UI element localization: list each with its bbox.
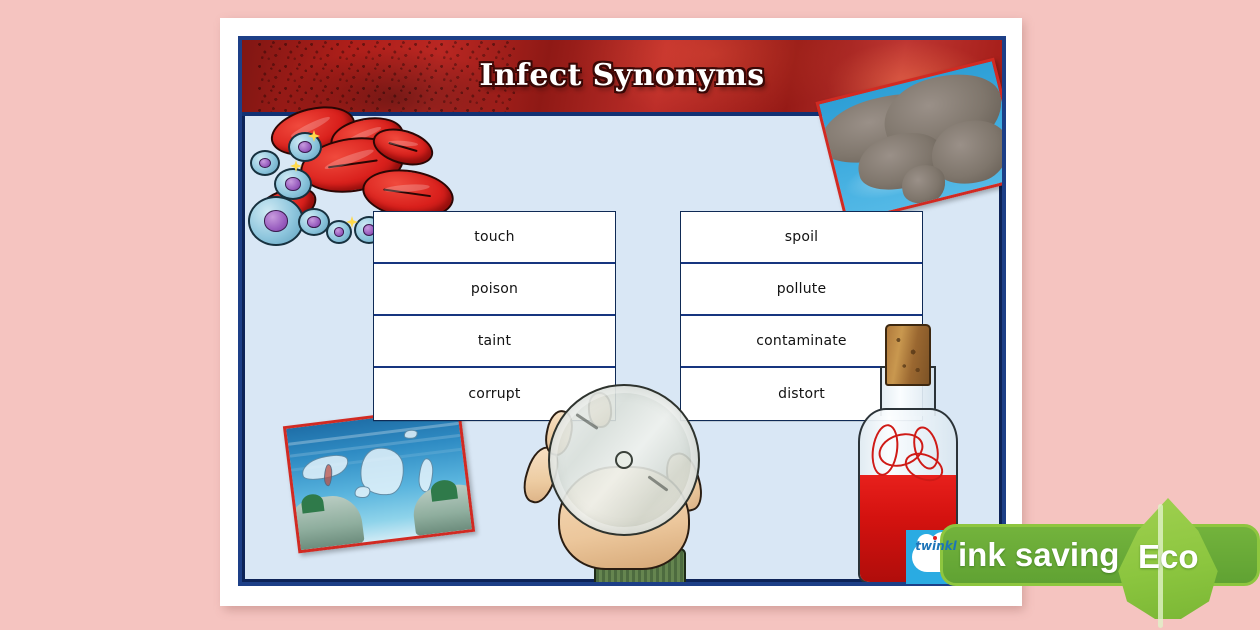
eco-label: Eco — [1138, 538, 1199, 576]
logo-dot — [933, 536, 937, 540]
germ-nucleus — [298, 141, 312, 153]
ink-saving-label: ink saving — [958, 536, 1119, 574]
word-cell[interactable]: touch — [374, 212, 615, 264]
germ-character — [248, 196, 304, 246]
dish-highlight — [647, 475, 668, 492]
floating-plastic-bag — [324, 464, 333, 486]
poster-page: Infect Synonyms — [220, 18, 1022, 606]
seaweed — [300, 493, 324, 514]
floating-plastic-bag — [354, 485, 371, 499]
dish-sample-dot — [615, 451, 633, 469]
germ-character — [250, 150, 280, 176]
word-cell[interactable]: spoil — [681, 212, 922, 264]
hand-with-petri-dish-illustration — [518, 370, 728, 586]
dish-highlight — [575, 413, 598, 430]
poster-inner-frame: Infect Synonyms — [238, 36, 1006, 586]
petri-dish — [548, 384, 700, 536]
cell-crease — [384, 189, 431, 198]
germ-nucleus — [307, 216, 320, 228]
liquid-swirl — [869, 422, 902, 477]
seabed-rock — [285, 493, 365, 552]
brand-name: twinkl — [906, 539, 966, 553]
germ-character — [326, 220, 352, 244]
cell-crease — [388, 142, 418, 152]
germ-character — [274, 168, 312, 200]
word-cell[interactable]: pollute — [681, 264, 922, 316]
germ-nucleus — [334, 227, 345, 237]
ocean-pollution-photo — [283, 405, 475, 554]
floating-plastic-bag — [403, 429, 418, 440]
water-surface-line — [288, 422, 459, 446]
germ-nucleus — [264, 210, 289, 232]
germ-nucleus — [285, 177, 301, 190]
word-cell[interactable]: taint — [374, 316, 615, 368]
germ-nucleus — [259, 158, 271, 169]
cell-crease — [328, 159, 378, 168]
word-cell[interactable]: poison — [374, 264, 615, 316]
cork-stopper — [885, 324, 931, 386]
seaweed — [430, 479, 458, 502]
ink-saving-eco-badge: twinkl ink saving Eco — [906, 494, 1260, 630]
